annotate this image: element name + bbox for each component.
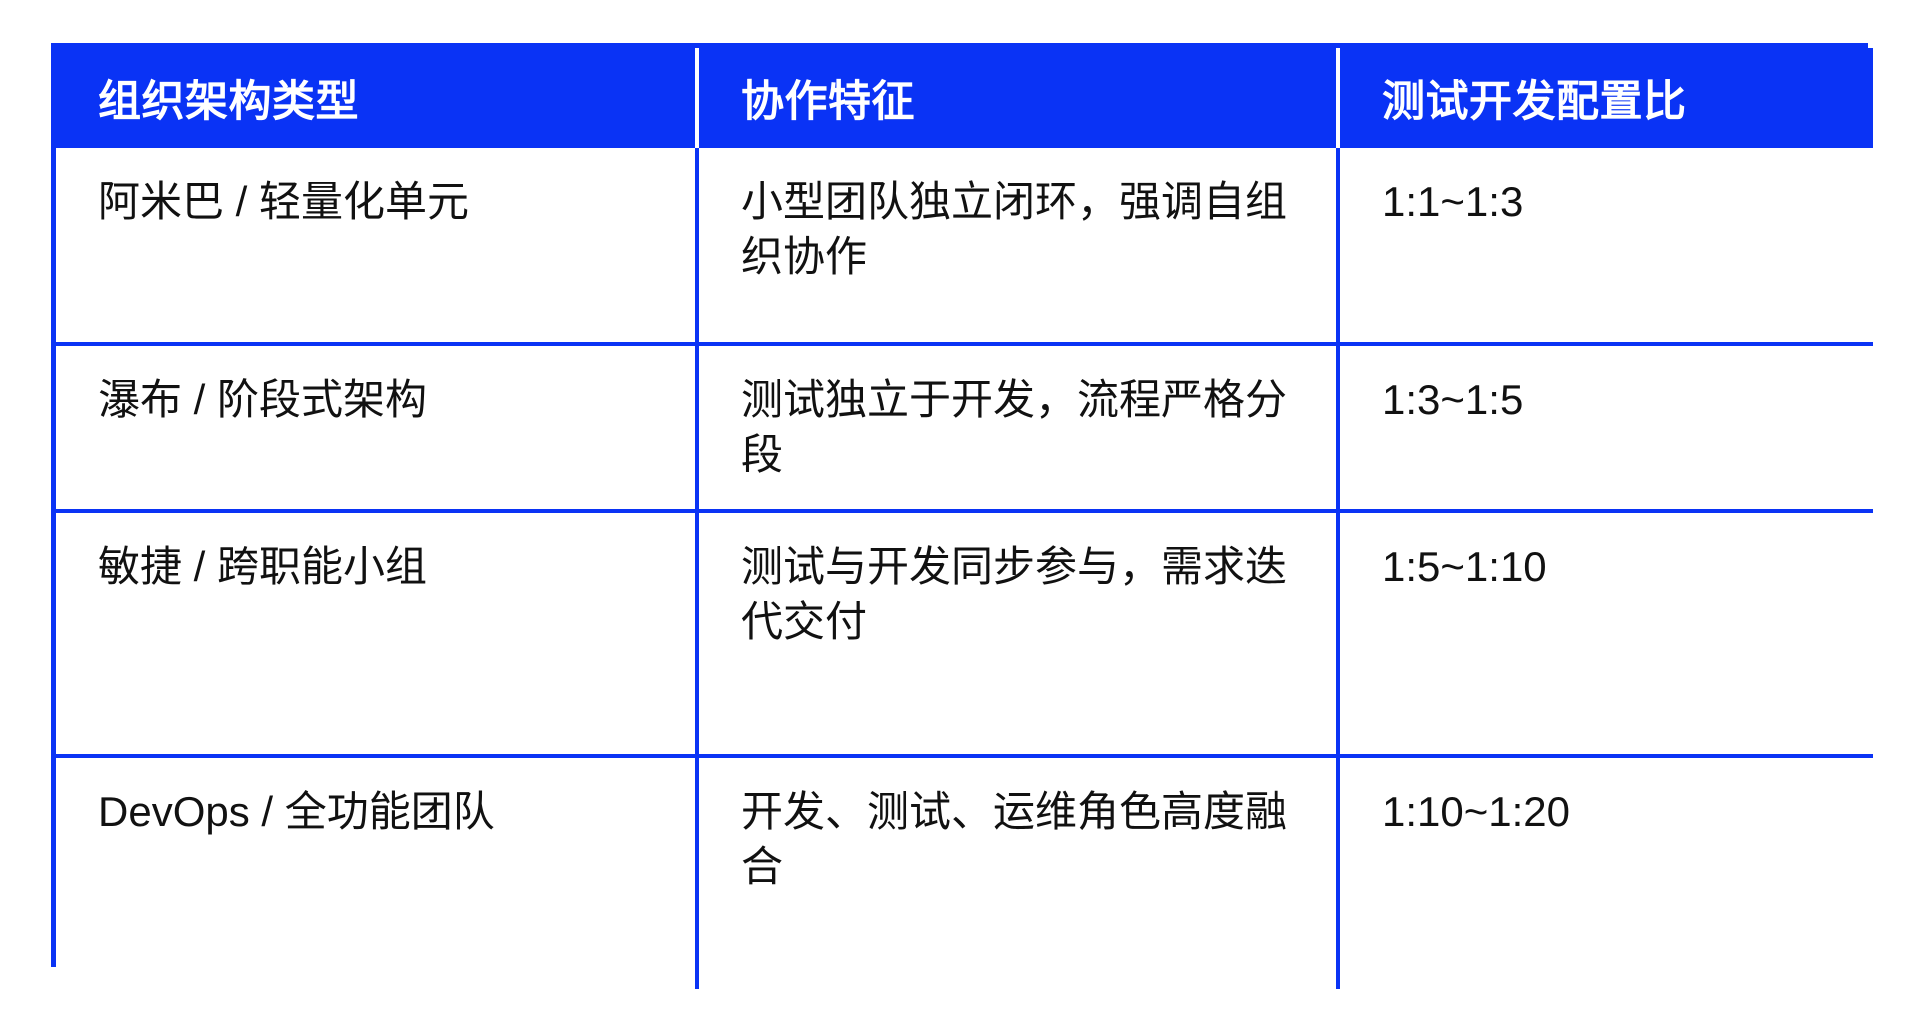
column-header-org-type: 组织架构类型 — [56, 48, 697, 148]
org-structure-table-container: 组织架构类型 协作特征 测试开发配置比 阿米巴 / 轻量化单元 小型团队独立闭环… — [51, 43, 1868, 967]
cell-collaboration: 开发、测试、运维角色高度融合 — [697, 756, 1338, 989]
cell-test-dev-ratio: 1:10~1:20 — [1338, 756, 1873, 989]
column-header-test-dev-ratio: 测试开发配置比 — [1338, 48, 1873, 148]
cell-test-dev-ratio: 1:5~1:10 — [1338, 511, 1873, 756]
table-header-row: 组织架构类型 协作特征 测试开发配置比 — [56, 48, 1873, 148]
page-root: 组织架构类型 协作特征 测试开发配置比 阿米巴 / 轻量化单元 小型团队独立闭环… — [0, 0, 1920, 1020]
table-row: DevOps / 全功能团队 开发、测试、运维角色高度融合 1:10~1:20 — [56, 756, 1873, 989]
cell-collaboration: 测试与开发同步参与，需求迭代交付 — [697, 511, 1338, 756]
table-body: 阿米巴 / 轻量化单元 小型团队独立闭环，强调自组织协作 1:1~1:3 瀑布 … — [56, 148, 1873, 989]
cell-test-dev-ratio: 1:3~1:5 — [1338, 344, 1873, 511]
cell-org-type: 敏捷 / 跨职能小组 — [56, 511, 697, 756]
cell-collaboration: 测试独立于开发，流程严格分段 — [697, 344, 1338, 511]
cell-org-type: 阿米巴 / 轻量化单元 — [56, 148, 697, 344]
table-header: 组织架构类型 协作特征 测试开发配置比 — [56, 48, 1873, 148]
cell-org-type: 瀑布 / 阶段式架构 — [56, 344, 697, 511]
cell-collaboration: 小型团队独立闭环，强调自组织协作 — [697, 148, 1338, 344]
cell-org-type: DevOps / 全功能团队 — [56, 756, 697, 989]
table-row: 阿米巴 / 轻量化单元 小型团队独立闭环，强调自组织协作 1:1~1:3 — [56, 148, 1873, 344]
cell-test-dev-ratio: 1:1~1:3 — [1338, 148, 1873, 344]
column-header-collaboration: 协作特征 — [697, 48, 1338, 148]
table-row: 瀑布 / 阶段式架构 测试独立于开发，流程严格分段 1:3~1:5 — [56, 344, 1873, 511]
table-row: 敏捷 / 跨职能小组 测试与开发同步参与，需求迭代交付 1:5~1:10 — [56, 511, 1873, 756]
org-structure-table: 组织架构类型 协作特征 测试开发配置比 阿米巴 / 轻量化单元 小型团队独立闭环… — [56, 48, 1873, 989]
